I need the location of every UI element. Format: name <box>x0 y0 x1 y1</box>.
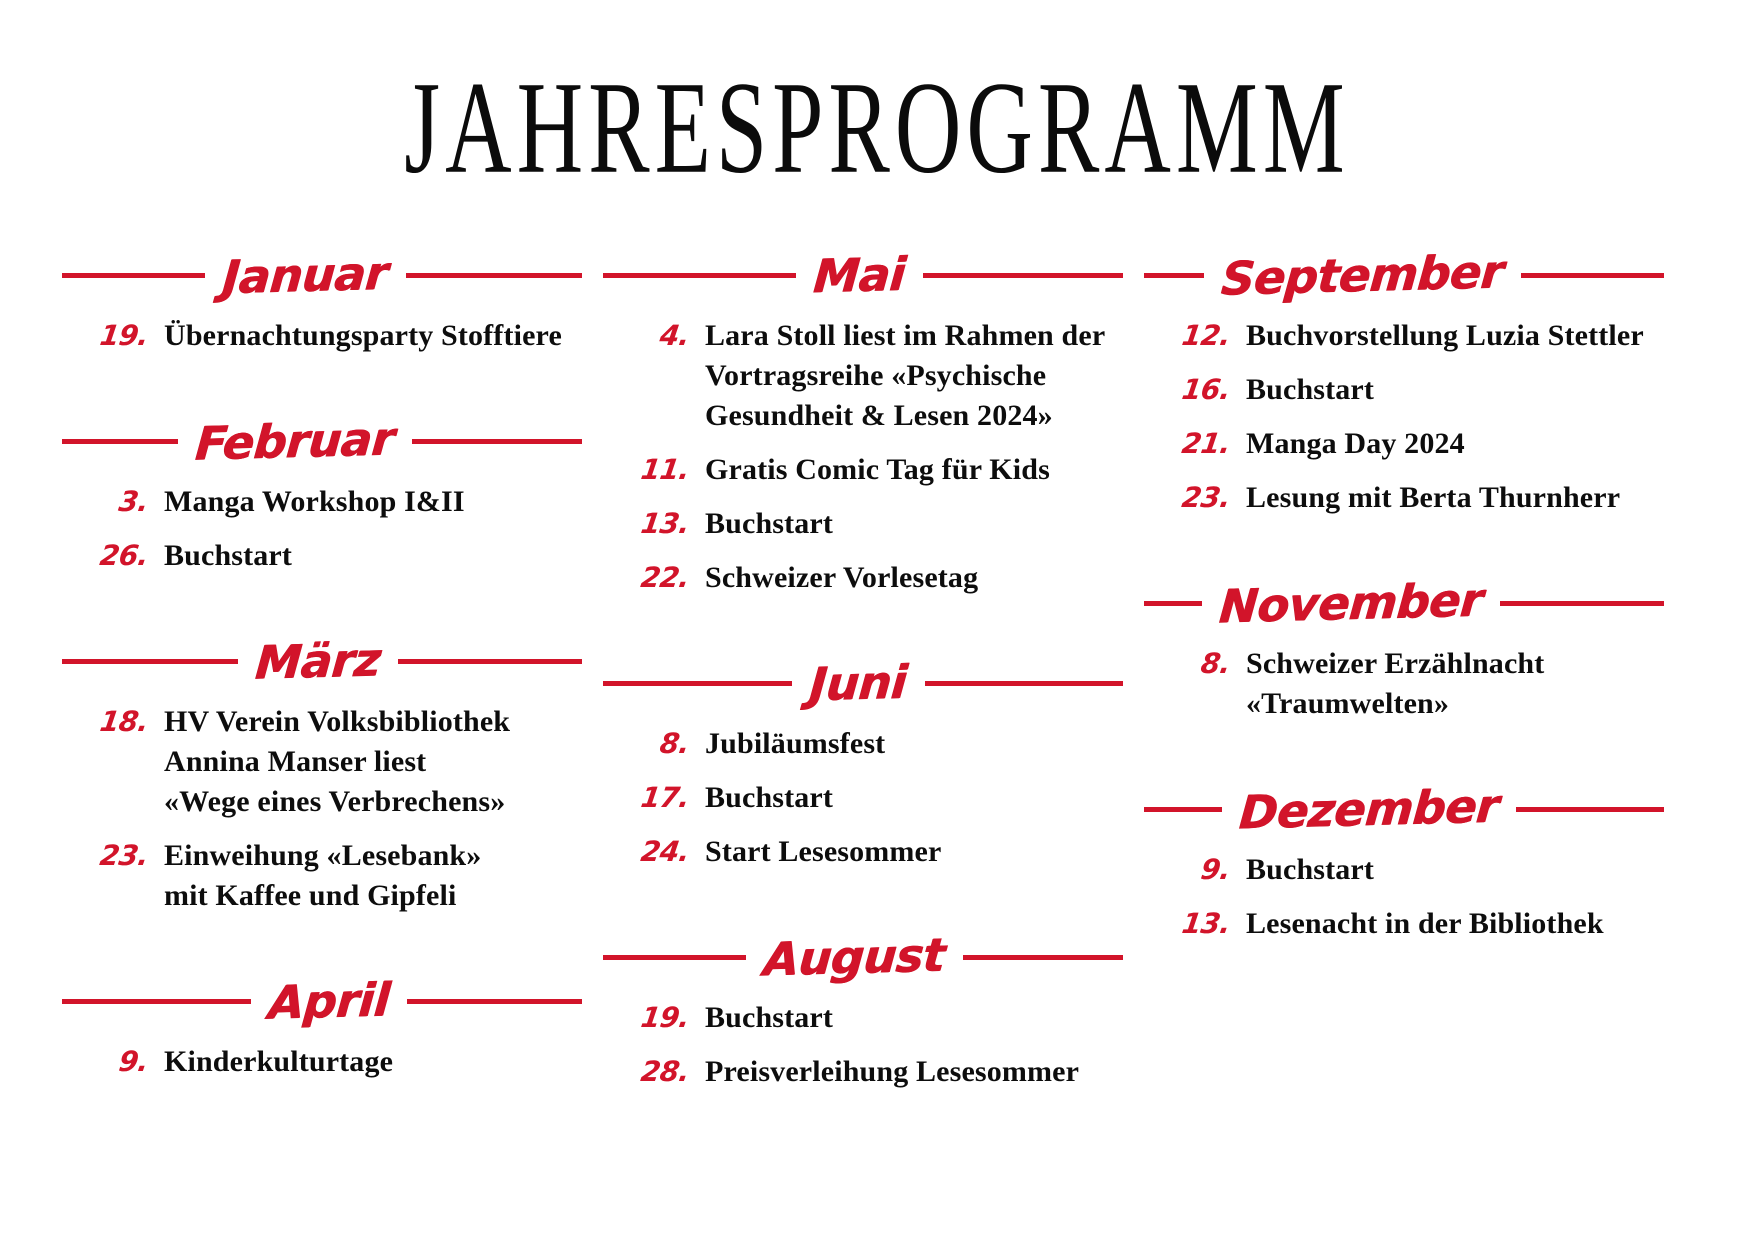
event-day: 9. <box>79 1042 167 1082</box>
month-rule-right <box>963 955 1123 960</box>
month-rule-left <box>603 955 746 960</box>
event-day: 23. <box>1161 478 1249 518</box>
column-2: Mai 4. Lara Stoll liest im Rahmen der Vo… <box>603 248 1123 1106</box>
event-row: 8. Schweizer Erzählnacht «Traumwelten» <box>1164 644 1664 724</box>
month-name-januar: Januar <box>217 250 394 301</box>
month-rule-right <box>398 659 582 664</box>
month-rule-left <box>603 681 792 686</box>
month-heading-dezember: Dezember <box>1144 782 1664 836</box>
event-list-februar: 3. Manga Workshop I&II 26. Buchstart <box>62 482 582 576</box>
event-day: 19. <box>79 316 167 356</box>
month-name-september: September <box>1216 248 1509 302</box>
event-title: Manga Workshop I&II <box>164 482 582 522</box>
month-rule-left <box>62 999 251 1004</box>
event-row: 9. Buchstart <box>1164 850 1664 890</box>
event-day: 18. <box>79 702 167 742</box>
month-block-maerz: März 18. HV Verein Volksbibliothek Annin… <box>62 634 582 916</box>
event-list-juni: 8. Jubiläumsfest 17. Buchstart 24. Start… <box>603 724 1123 872</box>
spacer <box>1144 532 1664 576</box>
month-rule-right <box>925 681 1123 686</box>
month-heading-juni: Juni <box>603 656 1123 710</box>
month-rule-left <box>1144 807 1222 812</box>
month-heading-mai: Mai <box>603 248 1123 302</box>
spacer <box>1144 738 1664 782</box>
month-block-april: April 9. Kinderkulturtage <box>62 974 582 1082</box>
month-heading-november: November <box>1144 576 1664 630</box>
month-rule-right <box>412 439 582 444</box>
event-title: Lesung mit Berta Thurnherr <box>1246 478 1664 518</box>
month-heading-februar: Februar <box>62 414 582 468</box>
column-3: September 12. Buchvorstellung Luzia Stet… <box>1144 248 1664 958</box>
month-heading-maerz: März <box>62 634 582 688</box>
event-day: 22. <box>620 558 708 598</box>
event-title: Preisverleihung Lesesommer <box>705 1052 1123 1092</box>
month-block-februar: Februar 3. Manga Workshop I&II 26. Buchs… <box>62 414 582 576</box>
event-row: 12. Buchvorstellung Luzia Stettler <box>1164 316 1664 356</box>
month-rule-right <box>1500 601 1664 606</box>
event-row: 26. Buchstart <box>82 536 582 576</box>
month-heading-september: September <box>1144 248 1664 302</box>
spacer <box>603 886 1123 930</box>
month-rule-left <box>62 439 178 444</box>
month-heading-januar: Januar <box>62 248 582 302</box>
month-name-mai: Mai <box>808 251 911 300</box>
event-row: 3. Manga Workshop I&II <box>82 482 582 522</box>
month-rule-right <box>1516 807 1664 812</box>
month-name-april: April <box>263 976 395 1025</box>
event-row: 9. Kinderkulturtage <box>82 1042 582 1082</box>
event-day: 13. <box>620 504 708 544</box>
event-day: 4. <box>620 316 708 356</box>
event-title: HV Verein Volksbibliothek Annina Manser … <box>164 702 582 822</box>
month-heading-april: April <box>62 974 582 1028</box>
event-day: 9. <box>1161 850 1249 890</box>
event-row: 19. Übernachtungsparty Stofftiere <box>82 316 582 356</box>
month-rule-right <box>407 999 582 1004</box>
month-block-juni: Juni 8. Jubiläumsfest 17. Buchstart 24. … <box>603 656 1123 872</box>
event-title: Buchstart <box>705 998 1123 1038</box>
month-name-august: August <box>758 932 951 983</box>
event-day: 26. <box>79 536 167 576</box>
event-title: Buchvorstellung Luzia Stettler <box>1246 316 1664 356</box>
event-row: 16. Buchstart <box>1164 370 1664 410</box>
event-list-mai: 4. Lara Stoll liest im Rahmen der Vortra… <box>603 316 1123 598</box>
month-name-maerz: März <box>250 636 386 685</box>
event-day: 28. <box>620 1052 708 1092</box>
event-list-maerz: 18. HV Verein Volksbibliothek Annina Man… <box>62 702 582 916</box>
month-rule-left <box>62 273 205 278</box>
event-day: 17. <box>620 778 708 818</box>
event-day: 19. <box>620 998 708 1038</box>
month-heading-august: August <box>603 930 1123 984</box>
event-day: 16. <box>1161 370 1249 410</box>
event-day: 11. <box>620 450 708 490</box>
event-title: Einweihung «Lesebank» mit Kaffee und Gip… <box>164 836 582 916</box>
spacer <box>603 612 1123 656</box>
event-title: Schweizer Erzählnacht «Traumwelten» <box>1246 644 1664 724</box>
event-title: Jubiläumsfest <box>705 724 1123 764</box>
spacer <box>62 370 582 414</box>
month-rule-left <box>603 273 796 278</box>
event-title: Lesenacht in der Bibliothek <box>1246 904 1664 944</box>
event-title: Gratis Comic Tag für Kids <box>705 450 1123 490</box>
month-name-februar: Februar <box>190 415 400 466</box>
month-rule-left <box>1144 601 1202 606</box>
event-row: 23. Einweihung «Lesebank» mit Kaffee und… <box>82 836 582 916</box>
event-row: 13. Buchstart <box>623 504 1123 544</box>
event-list-august: 19. Buchstart 28. Preisverleihung Leseso… <box>603 998 1123 1092</box>
event-row: 4. Lara Stoll liest im Rahmen der Vortra… <box>623 316 1123 436</box>
event-list-april: 9. Kinderkulturtage <box>62 1042 582 1082</box>
event-title: Buchstart <box>705 778 1123 818</box>
event-title: Übernachtungsparty Stofftiere <box>164 316 582 356</box>
event-day: 21. <box>1161 424 1249 464</box>
month-rule-left <box>62 659 238 664</box>
event-row: 17. Buchstart <box>623 778 1123 818</box>
month-block-dezember: Dezember 9. Buchstart 13. Lesenacht in d… <box>1144 782 1664 944</box>
event-title: Buchstart <box>164 536 582 576</box>
event-day: 13. <box>1161 904 1249 944</box>
event-list-september: 12. Buchvorstellung Luzia Stettler 16. B… <box>1144 316 1664 518</box>
column-1: Januar 19. Übernachtungsparty Stofftiere… <box>62 248 582 1096</box>
month-name-juni: Juni <box>805 659 913 708</box>
event-title: Buchstart <box>1246 370 1664 410</box>
month-block-august: August 19. Buchstart 28. Preisverleihung… <box>603 930 1123 1092</box>
event-row: 18. HV Verein Volksbibliothek Annina Man… <box>82 702 582 822</box>
event-title: Start Lesesommer <box>705 832 1123 872</box>
month-name-dezember: Dezember <box>1233 783 1504 836</box>
event-row: 28. Preisverleihung Lesesommer <box>623 1052 1123 1092</box>
event-day: 8. <box>620 724 708 764</box>
event-row: 11. Gratis Comic Tag für Kids <box>623 450 1123 490</box>
event-day: 24. <box>620 832 708 872</box>
event-list-november: 8. Schweizer Erzählnacht «Traumwelten» <box>1144 644 1664 724</box>
month-block-september: September 12. Buchvorstellung Luzia Stet… <box>1144 248 1664 518</box>
event-row: 22. Schweizer Vorlesetag <box>623 558 1123 598</box>
jahresprogramm-poster: JAHRESPROGRAMM Januar 19. Übernachtungsp… <box>0 0 1754 1240</box>
spacer <box>62 590 582 634</box>
month-rule-left <box>1144 273 1204 278</box>
page-title: JAHRESPROGRAMM <box>193 62 1561 194</box>
event-day: 8. <box>1161 644 1249 684</box>
month-name-november: November <box>1214 576 1489 629</box>
spacer <box>62 930 582 974</box>
month-rule-right <box>923 273 1123 278</box>
month-block-januar: Januar 19. Übernachtungsparty Stofftiere <box>62 248 582 356</box>
event-title: Buchstart <box>705 504 1123 544</box>
event-row: 19. Buchstart <box>623 998 1123 1038</box>
event-day: 23. <box>79 836 167 876</box>
month-rule-right <box>1521 273 1664 278</box>
event-day: 12. <box>1161 316 1249 356</box>
month-rule-right <box>406 273 582 278</box>
event-title: Buchstart <box>1246 850 1664 890</box>
event-row: 24. Start Lesesommer <box>623 832 1123 872</box>
event-list-dezember: 9. Buchstart 13. Lesenacht in der Biblio… <box>1144 850 1664 944</box>
month-block-november: November 8. Schweizer Erzählnacht «Traum… <box>1144 576 1664 724</box>
event-title: Manga Day 2024 <box>1246 424 1664 464</box>
event-row: 23. Lesung mit Berta Thurnherr <box>1164 478 1664 518</box>
event-row: 8. Jubiläumsfest <box>623 724 1123 764</box>
event-title: Lara Stoll liest im Rahmen der Vortragsr… <box>705 316 1123 436</box>
event-row: 21. Manga Day 2024 <box>1164 424 1664 464</box>
month-columns: Januar 19. Übernachtungsparty Stofftiere… <box>62 248 1692 1106</box>
event-list-januar: 19. Übernachtungsparty Stofftiere <box>62 316 582 356</box>
month-block-mai: Mai 4. Lara Stoll liest im Rahmen der Vo… <box>603 248 1123 598</box>
event-title: Kinderkulturtage <box>164 1042 582 1082</box>
event-title: Schweizer Vorlesetag <box>705 558 1123 598</box>
event-row: 13. Lesenacht in der Bibliothek <box>1164 904 1664 944</box>
event-day: 3. <box>79 482 167 522</box>
